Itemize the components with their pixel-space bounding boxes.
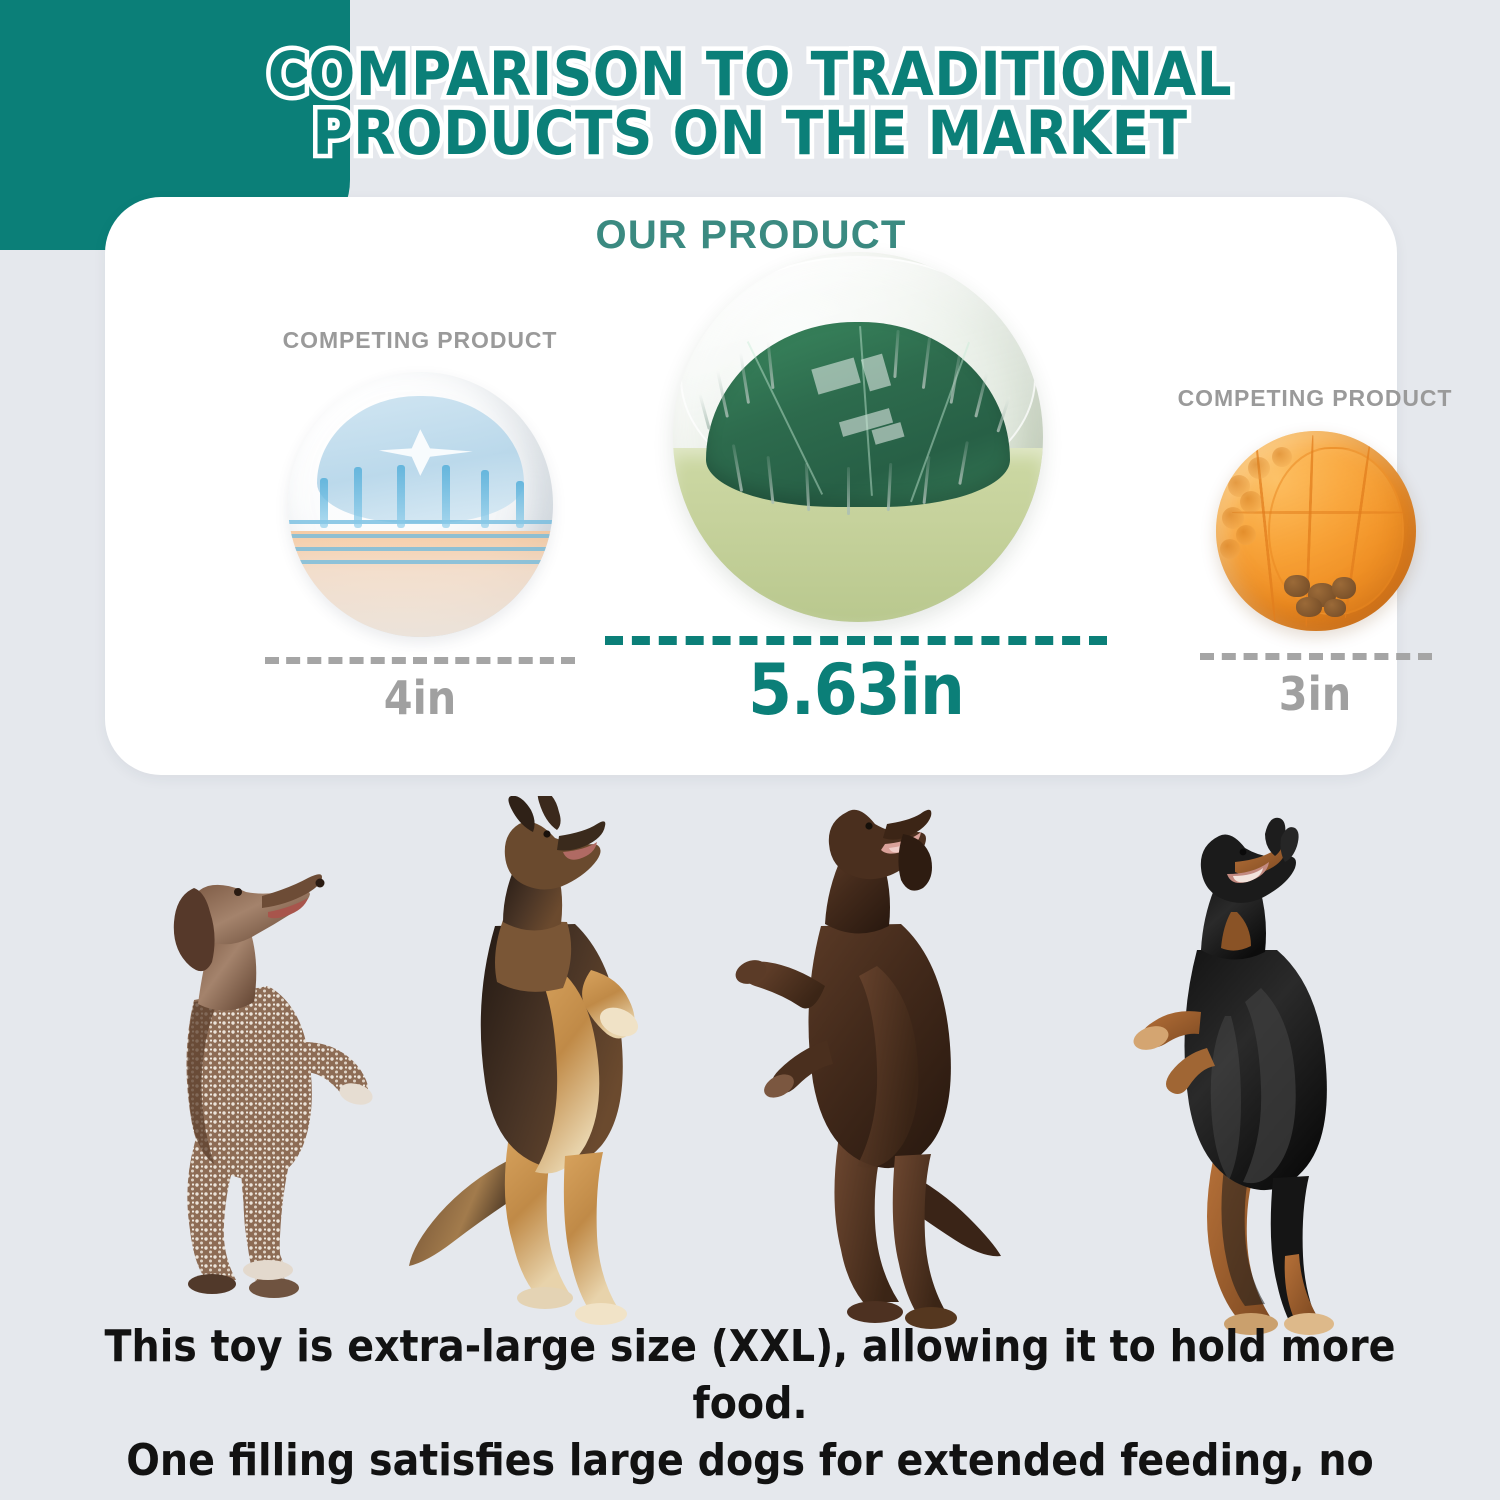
competing-product-label-right: COMPETING PRODUCT bbox=[1140, 385, 1490, 412]
caption-line-2: One filling satisfies large dogs for ext… bbox=[70, 1432, 1430, 1500]
ball-fin bbox=[516, 481, 524, 529]
ball-bristle bbox=[847, 467, 850, 515]
page-title-line-2: PRODUCTS ON THE MARKET bbox=[0, 105, 1500, 164]
product-column-competitor-left: COMPETING PRODUCT 4in bbox=[230, 327, 610, 757]
dog-shepherd bbox=[405, 796, 705, 1326]
infographic-page: COMPARISON TO TRADITIONAL PRODUCTS ON TH… bbox=[0, 0, 1500, 1500]
ball-kibble bbox=[1332, 577, 1356, 599]
ball-kibble bbox=[1324, 599, 1346, 617]
competing-product-label-left: COMPETING PRODUCT bbox=[230, 327, 610, 354]
size-label-left: 4in bbox=[230, 671, 610, 725]
our-product-ball-image bbox=[673, 252, 1043, 622]
dog-pointer bbox=[150, 832, 380, 1302]
page-title: COMPARISON TO TRADITIONAL PRODUCTS ON TH… bbox=[0, 46, 1500, 163]
caption-line-1: This toy is extra-large size (XXL), allo… bbox=[70, 1318, 1430, 1432]
size-label-center: 5.63in bbox=[575, 649, 1137, 731]
ball-dimple bbox=[1272, 447, 1292, 467]
ball-rib bbox=[1232, 511, 1404, 514]
measure-dash-line-center bbox=[605, 636, 1107, 645]
ball-dimple bbox=[1248, 457, 1270, 479]
ball-fin bbox=[442, 465, 450, 529]
ball-kibble bbox=[1284, 575, 1310, 597]
ball-band bbox=[288, 547, 553, 551]
ball-fin bbox=[481, 470, 489, 528]
dog-doberman bbox=[1115, 816, 1385, 1336]
dog-photo-row bbox=[0, 760, 1500, 1320]
competitor-ball-right-image bbox=[1216, 431, 1416, 631]
dog-labrador bbox=[735, 790, 1025, 1330]
ball-fin bbox=[320, 478, 328, 528]
ball-kibble bbox=[1296, 597, 1322, 617]
page-title-line-1: COMPARISON TO TRADITIONAL bbox=[0, 46, 1500, 105]
comparison-card: OUR PRODUCT COMPETING PRODUCT 4in bbox=[105, 197, 1397, 775]
ball-dimple bbox=[1236, 525, 1256, 545]
ball-fin bbox=[397, 465, 405, 529]
product-column-our-product: 5.63in bbox=[575, 243, 1137, 755]
ball-band bbox=[288, 534, 553, 538]
ball-band bbox=[288, 560, 553, 564]
bottom-caption: This toy is extra-large size (XXL), allo… bbox=[70, 1318, 1430, 1500]
product-column-competitor-right: COMPETING PRODUCT bbox=[1140, 385, 1490, 760]
size-label-right: 3in bbox=[1140, 667, 1490, 721]
measure-dash-line-left bbox=[265, 657, 575, 664]
measure-dash-line-right bbox=[1200, 653, 1432, 660]
ball-fin bbox=[354, 467, 362, 528]
ball-dimple bbox=[1240, 491, 1262, 513]
ball-dimple bbox=[1220, 539, 1240, 559]
competitor-ball-left-image bbox=[288, 372, 553, 637]
